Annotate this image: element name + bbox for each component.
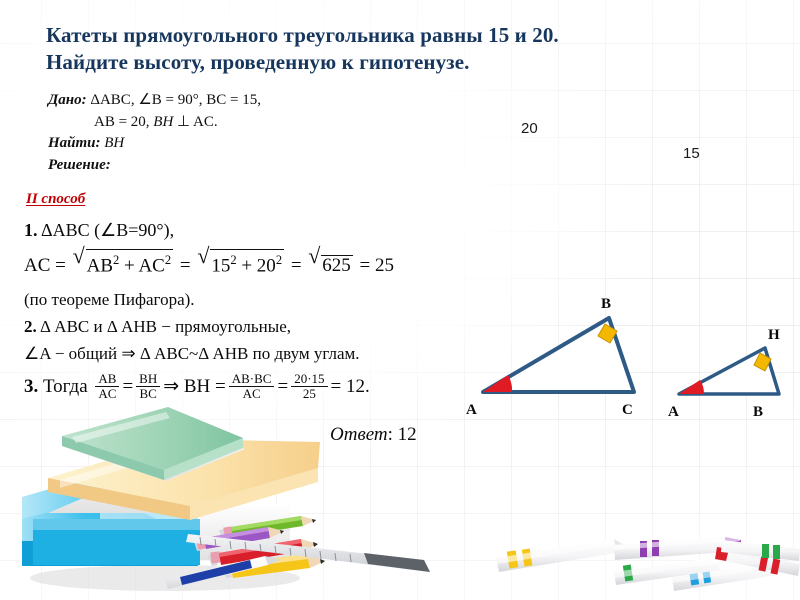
marker-group [496, 536, 800, 591]
marker-yellow [496, 539, 624, 572]
pencil-red-lead [313, 542, 318, 547]
blue-book-front-gloss [33, 519, 200, 530]
pencil-yellow-lead [320, 559, 325, 564]
decorative-stationery-artwork [0, 0, 800, 600]
ruler-dark-end [364, 553, 430, 572]
pencil-red-eraser [210, 551, 220, 563]
marker-green-right-band-2 [773, 545, 780, 559]
pencil-green-lead [312, 519, 316, 523]
marker-green-right-band-1 [762, 544, 769, 558]
